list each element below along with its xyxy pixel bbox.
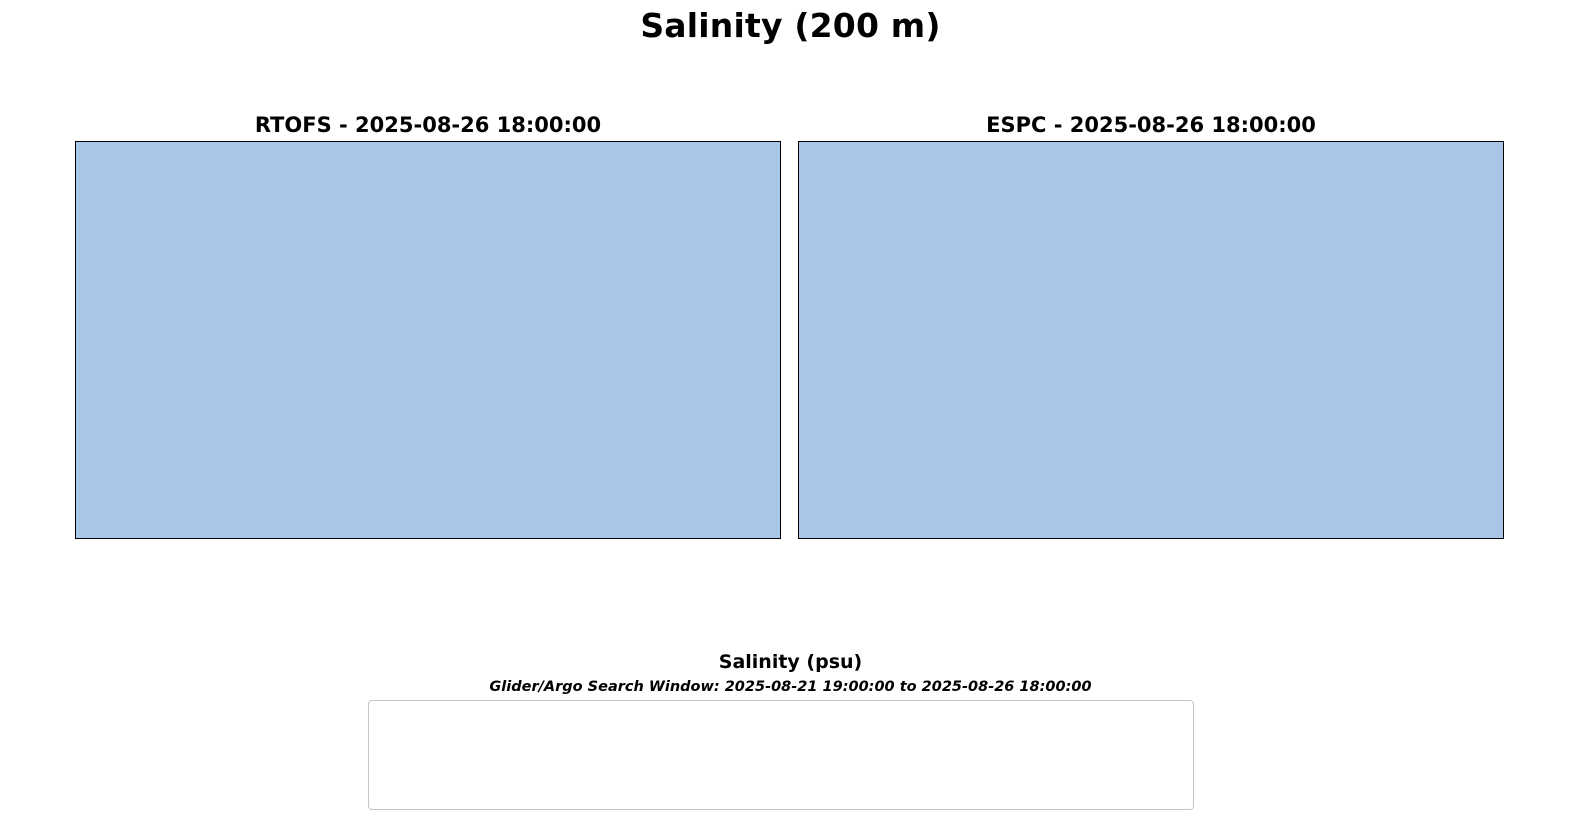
legend[interactable] [368,700,1194,810]
map-panel-espc[interactable] [798,141,1504,539]
figure-canvas: Salinity (200 m) RTOFS - 2025-08-26 18:0… [0,0,1581,829]
colorbar[interactable] [110,600,1450,624]
page-title: Salinity (200 m) [0,6,1581,45]
panel-title-espc: ESPC - 2025-08-26 18:00:00 [798,113,1504,137]
colorbar-label: Salinity (psu) [0,651,1581,673]
panel-title-rtofs: RTOFS - 2025-08-26 18:00:00 [75,113,781,137]
map-panel-rtofs[interactable] [75,141,781,539]
search-window-caption: Glider/Argo Search Window: 2025-08-21 19… [0,679,1581,695]
